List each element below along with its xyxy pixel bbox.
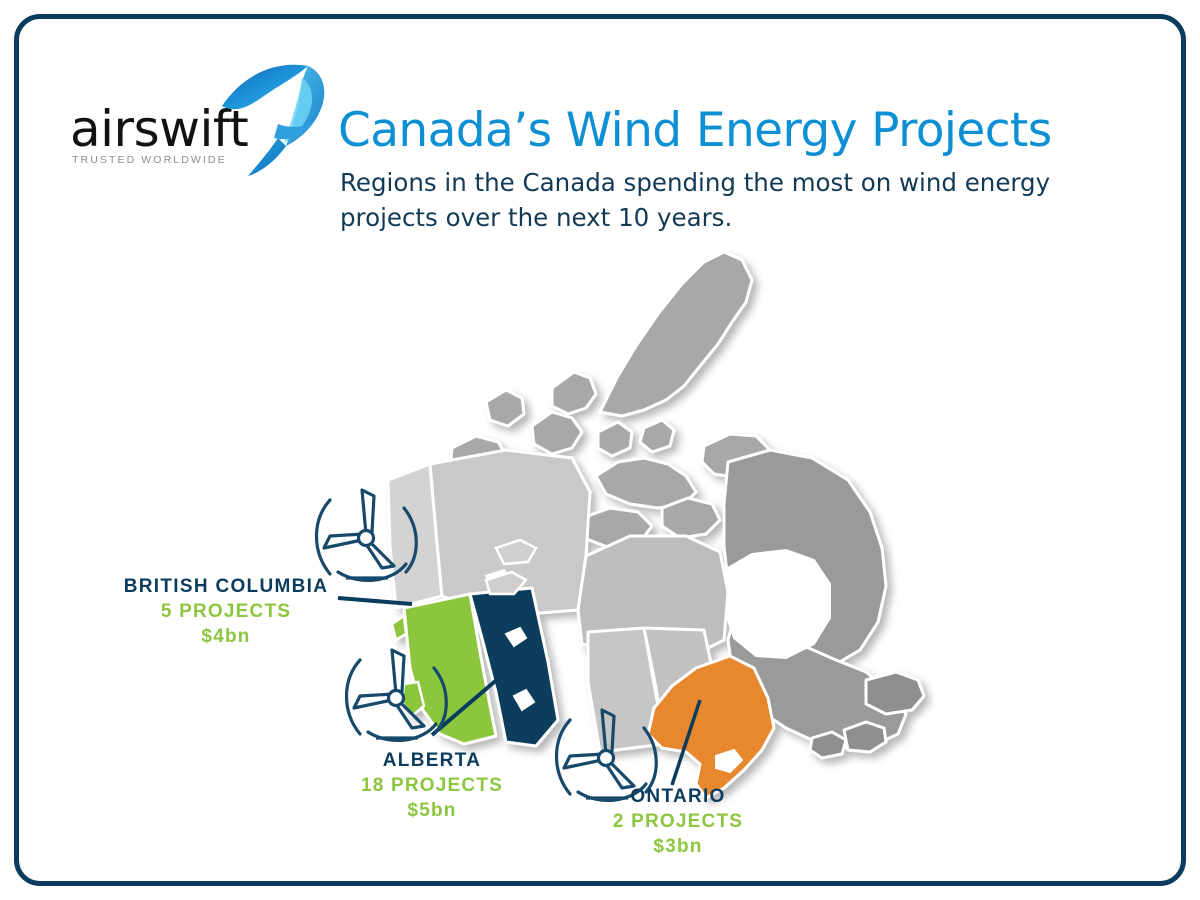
project-count-british-columbia: 5 PROJECTS <box>96 599 356 624</box>
swift-bird-icon <box>216 62 328 178</box>
page-title: Canada’s Wind Energy Projects <box>338 104 1158 158</box>
wind-turbine-icon-alberta <box>338 632 454 764</box>
page-subtitle: Regions in the Canada spending the most … <box>340 166 1060 236</box>
region-name-british-columbia: BRITISH COLUMBIA <box>96 574 356 599</box>
callout-british-columbia: BRITISH COLUMBIA 5 PROJECTS $4bn <box>96 574 356 649</box>
region-name-alberta: ALBERTA <box>312 748 552 773</box>
callout-alberta: ALBERTA 18 PROJECTS $5bn <box>312 748 552 823</box>
spend-amount-ontario: $3bn <box>558 834 798 859</box>
project-count-ontario: 2 PROJECTS <box>558 809 798 834</box>
header-block: Canada’s Wind Energy Projects Regions in… <box>338 104 1158 236</box>
project-count-alberta: 18 PROJECTS <box>312 773 552 798</box>
logo-tagline: TRUSTED WORLDWIDE <box>72 154 227 166</box>
spend-amount-alberta: $5bn <box>312 798 552 823</box>
airswift-logo[interactable]: airswift TRUSTED WORLDWIDE <box>66 66 306 176</box>
callout-ontario: ONTARIO 2 PROJECTS $3bn <box>558 784 798 859</box>
region-name-ontario: ONTARIO <box>558 784 798 809</box>
spend-amount-british-columbia: $4bn <box>96 624 356 649</box>
infographic-canvas: airswift TRUSTED WORLDWIDE <box>0 0 1200 900</box>
